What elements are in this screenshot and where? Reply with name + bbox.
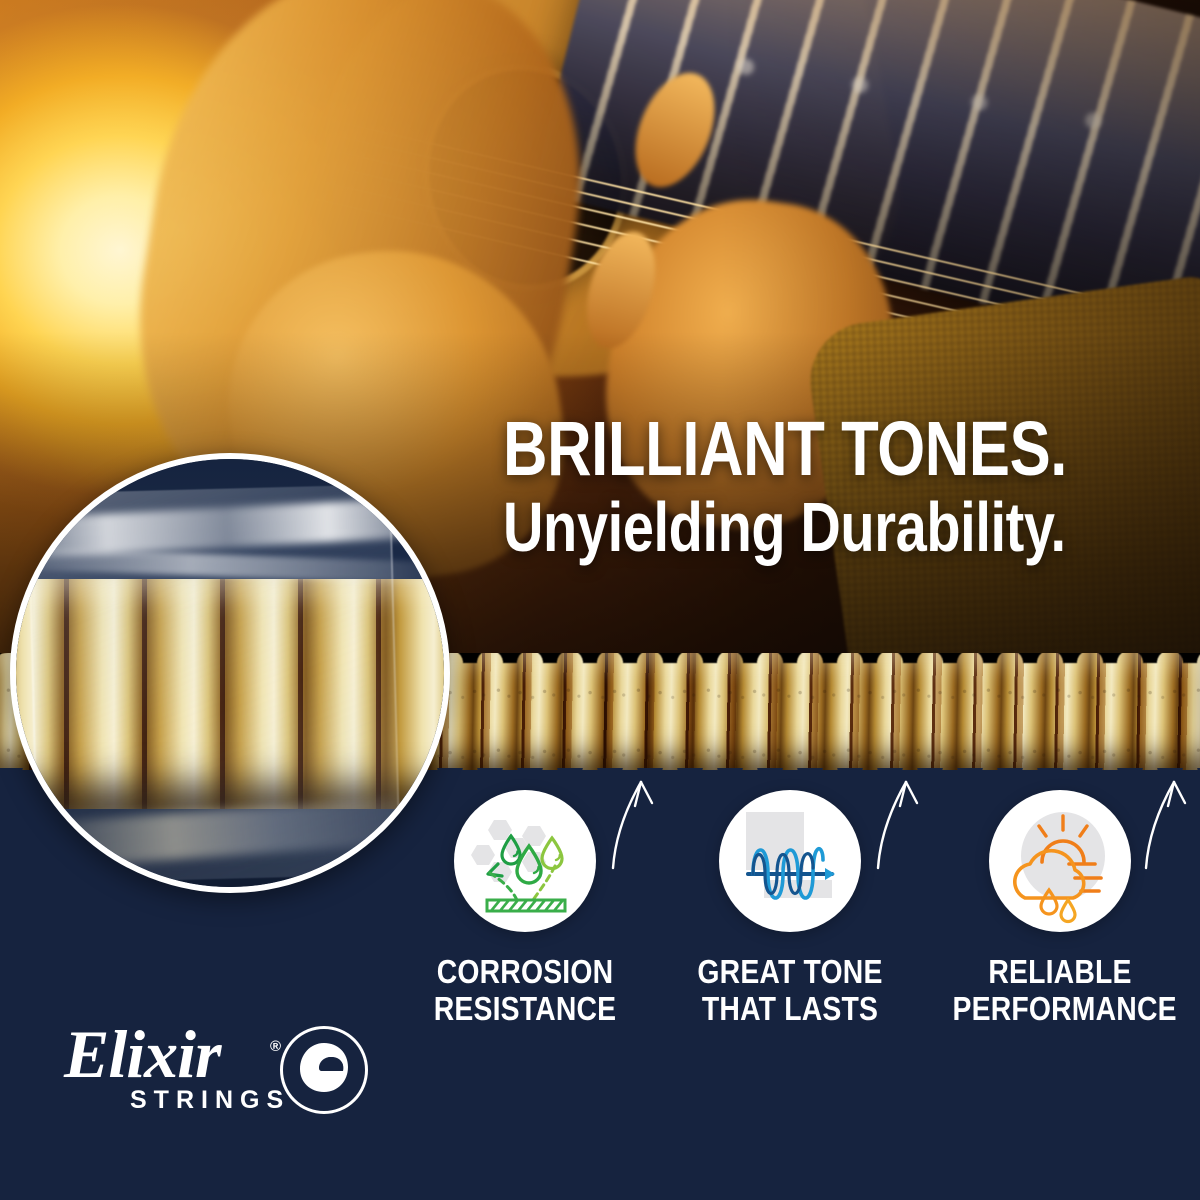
brand-logo[interactable]: Elixir ® STRINGS — [58, 1022, 378, 1132]
sine-wave-signal-icon — [719, 790, 861, 932]
feature-icon-circle — [719, 790, 861, 932]
headline-line-1: BRILLIANT TONES. — [503, 414, 1047, 486]
elixir-e-roundel-icon — [280, 1026, 368, 1114]
feature-label-line-1: CORROSION — [418, 954, 633, 991]
brand-name: Elixir — [64, 1020, 221, 1088]
feature-label-line-1: GREAT TONE — [683, 954, 898, 991]
feature-label: RELIABLE PERFORMANCE — [953, 954, 1168, 1028]
feature-label: CORROSION RESISTANCE — [418, 954, 633, 1028]
feature-icon-circle — [989, 790, 1131, 932]
registered-trademark-icon: ® — [270, 1038, 281, 1055]
string-closeup-inset — [10, 453, 450, 893]
headline-line-2: Unyielding Durability. — [503, 492, 1047, 563]
brand-subtitle: STRINGS — [130, 1086, 290, 1115]
feature-list: CORROSION RESISTANCE GREAT TONE THAT LAS… — [420, 790, 1200, 1150]
promo-graphic: BRILLIANT TONES. Unyielding Durability. — [0, 0, 1200, 1200]
feature-reliable-performance[interactable]: RELIABLE PERFORMANCE — [935, 790, 1185, 1028]
feature-corrosion-resistance[interactable]: CORROSION RESISTANCE — [400, 790, 650, 1028]
feature-icon-circle — [454, 790, 596, 932]
sun-cloud-rain-weather-icon — [989, 790, 1131, 932]
feature-label-line-2: THAT LASTS — [683, 991, 898, 1028]
feature-label-line-2: PERFORMANCE — [953, 991, 1168, 1028]
headline: BRILLIANT TONES. Unyielding Durability. — [503, 414, 1183, 563]
water-droplets-repelled-surface-icon — [454, 790, 596, 932]
feature-label: GREAT TONE THAT LASTS — [683, 954, 898, 1028]
feature-label-line-2: RESISTANCE — [418, 991, 633, 1028]
feature-great-tone[interactable]: GREAT TONE THAT LASTS — [665, 790, 915, 1028]
feature-label-line-1: RELIABLE — [953, 954, 1168, 991]
